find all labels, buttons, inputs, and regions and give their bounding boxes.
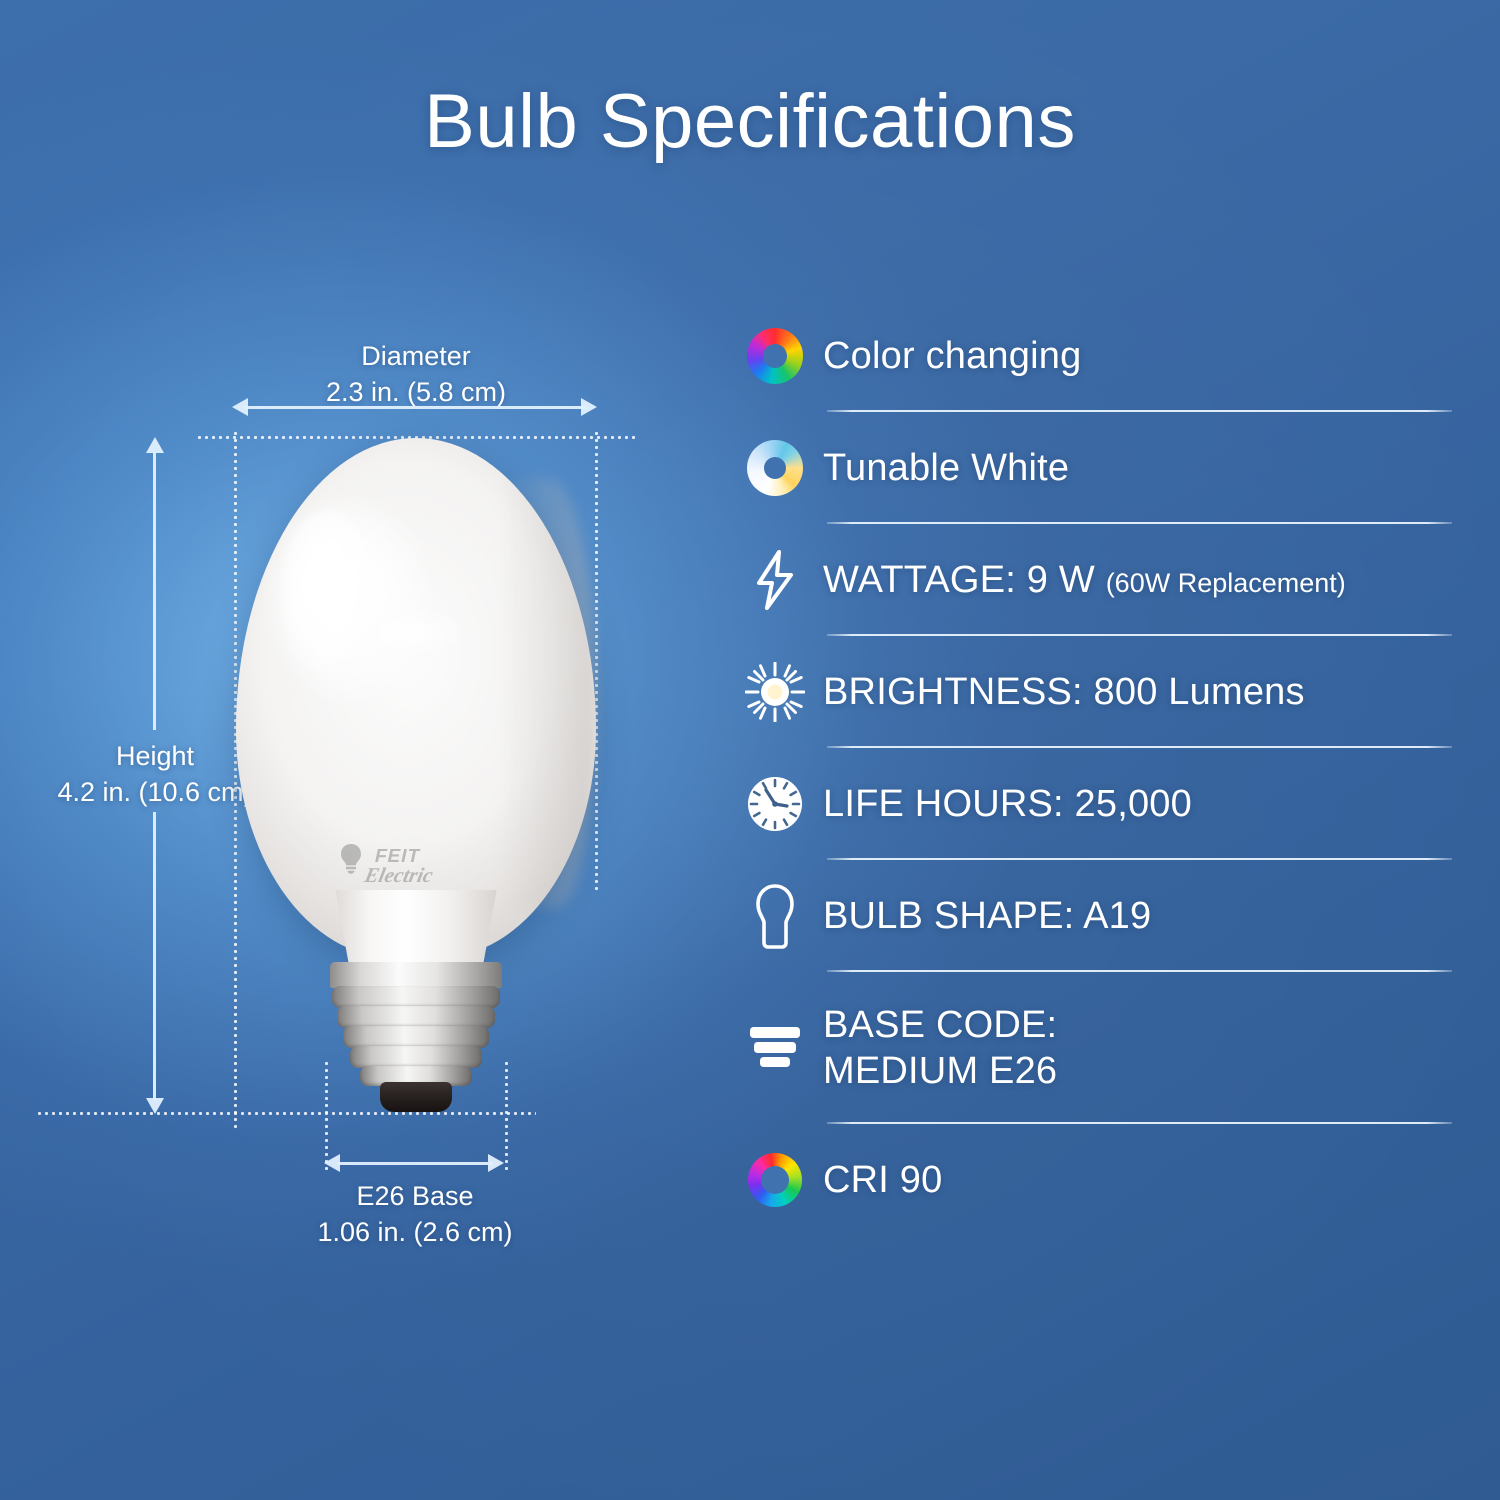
feit-electric-logo: $ FEIT Electric: [339, 838, 469, 894]
height-label-title: Height: [116, 741, 194, 771]
bulb-specifications-infographic: Bulb Specifications Diameter 2.3 in. (5.…: [0, 0, 1500, 1500]
height-arrow-line-lower: [153, 812, 156, 1100]
base-arrow-head-left: [324, 1154, 340, 1172]
base-label: E26 Base 1.06 in. (2.6 cm): [265, 1178, 565, 1250]
spec-row-tunable-white: Tunable White: [727, 412, 1452, 524]
e26-screw-base: [324, 962, 508, 1102]
spec-label-second-line: MEDIUM E26: [823, 1050, 1057, 1092]
spec-row-base-code: BASE CODE: MEDIUM E26: [727, 972, 1452, 1124]
specifications-list: Color changing Tunable White WATTAGE: 9 …: [727, 300, 1452, 1236]
spec-label: BULB SHAPE: A19: [823, 893, 1452, 939]
screw-thread: [343, 1026, 489, 1048]
spec-label: Tunable White: [823, 445, 1452, 491]
diameter-arrow-line: [244, 406, 588, 409]
diameter-label-value: 2.3 in. (5.8 cm): [326, 377, 506, 407]
spec-row-cri: CRI 90: [727, 1124, 1452, 1236]
sun-icon: [727, 662, 823, 722]
spec-row-brightness: BRIGHTNESS: 800 Lumens: [727, 636, 1452, 748]
spec-row-bulb-shape: BULB SHAPE: A19: [727, 860, 1452, 972]
diameter-label: Diameter 2.3 in. (5.8 cm): [236, 338, 596, 410]
base-label-value: 1.06 in. (2.6 cm): [317, 1217, 512, 1247]
spec-label-suffix: (60W Replacement): [1106, 568, 1346, 598]
bulb-highlight-secondary: [354, 606, 472, 658]
diameter-label-title: Diameter: [361, 341, 471, 371]
spec-label: BASE CODE: MEDIUM E26: [823, 1002, 1452, 1095]
cri-color-ring-icon: [727, 1153, 823, 1207]
spec-label: LIFE HOURS: 25,000: [823, 781, 1452, 827]
tunable-white-icon: [727, 440, 823, 496]
svg-text:Electric: Electric: [362, 863, 436, 887]
base-arrow-line: [337, 1162, 493, 1165]
spec-label-main: BASE CODE:: [823, 1004, 1057, 1046]
bulb-highlight-primary: [280, 510, 376, 680]
screw-base-tip: [380, 1082, 452, 1112]
spec-row-color-changing: Color changing: [727, 300, 1452, 412]
bulb-shape-icon: [727, 883, 823, 949]
height-arrow-head-top: [146, 437, 164, 453]
lightning-bolt-icon: [727, 549, 823, 611]
spec-row-life-hours: LIFE HOURS: 25,000: [727, 748, 1452, 860]
base-arrow-head-right: [488, 1154, 504, 1172]
bulb-dimension-diagram: Diameter 2.3 in. (5.8 cm) Height 4.2 in.…: [0, 0, 700, 1500]
spec-label: Color changing: [823, 333, 1452, 379]
screw-thread: [350, 1046, 482, 1068]
spec-label: BRIGHTNESS: 800 Lumens: [823, 669, 1452, 715]
light-bulb-illustration: $ FEIT Electric: [236, 438, 596, 1128]
diameter-arrow-head-right: [581, 398, 597, 416]
spec-row-wattage: WATTAGE: 9 W (60W Replacement): [727, 524, 1452, 636]
screw-base-collar: [330, 962, 502, 988]
diameter-arrow-head-left: [232, 398, 248, 416]
spec-label: CRI 90: [823, 1157, 1452, 1203]
base-label-title: E26 Base: [356, 1181, 473, 1211]
screw-base-icon: [727, 1022, 823, 1074]
height-label-value: 4.2 in. (10.6 cm): [57, 777, 252, 807]
svg-text:$: $: [347, 849, 356, 866]
screw-thread: [337, 1006, 495, 1028]
spec-label: WATTAGE: 9 W (60W Replacement): [823, 557, 1452, 603]
color-wheel-icon: [727, 328, 823, 384]
height-arrow-head-bottom: [146, 1098, 164, 1114]
clock-icon: [727, 775, 823, 833]
screw-thread: [332, 986, 500, 1008]
bulb-shading: [500, 478, 596, 908]
height-arrow-line-upper: [153, 452, 156, 730]
spec-label-main: WATTAGE: 9 W: [823, 559, 1095, 601]
